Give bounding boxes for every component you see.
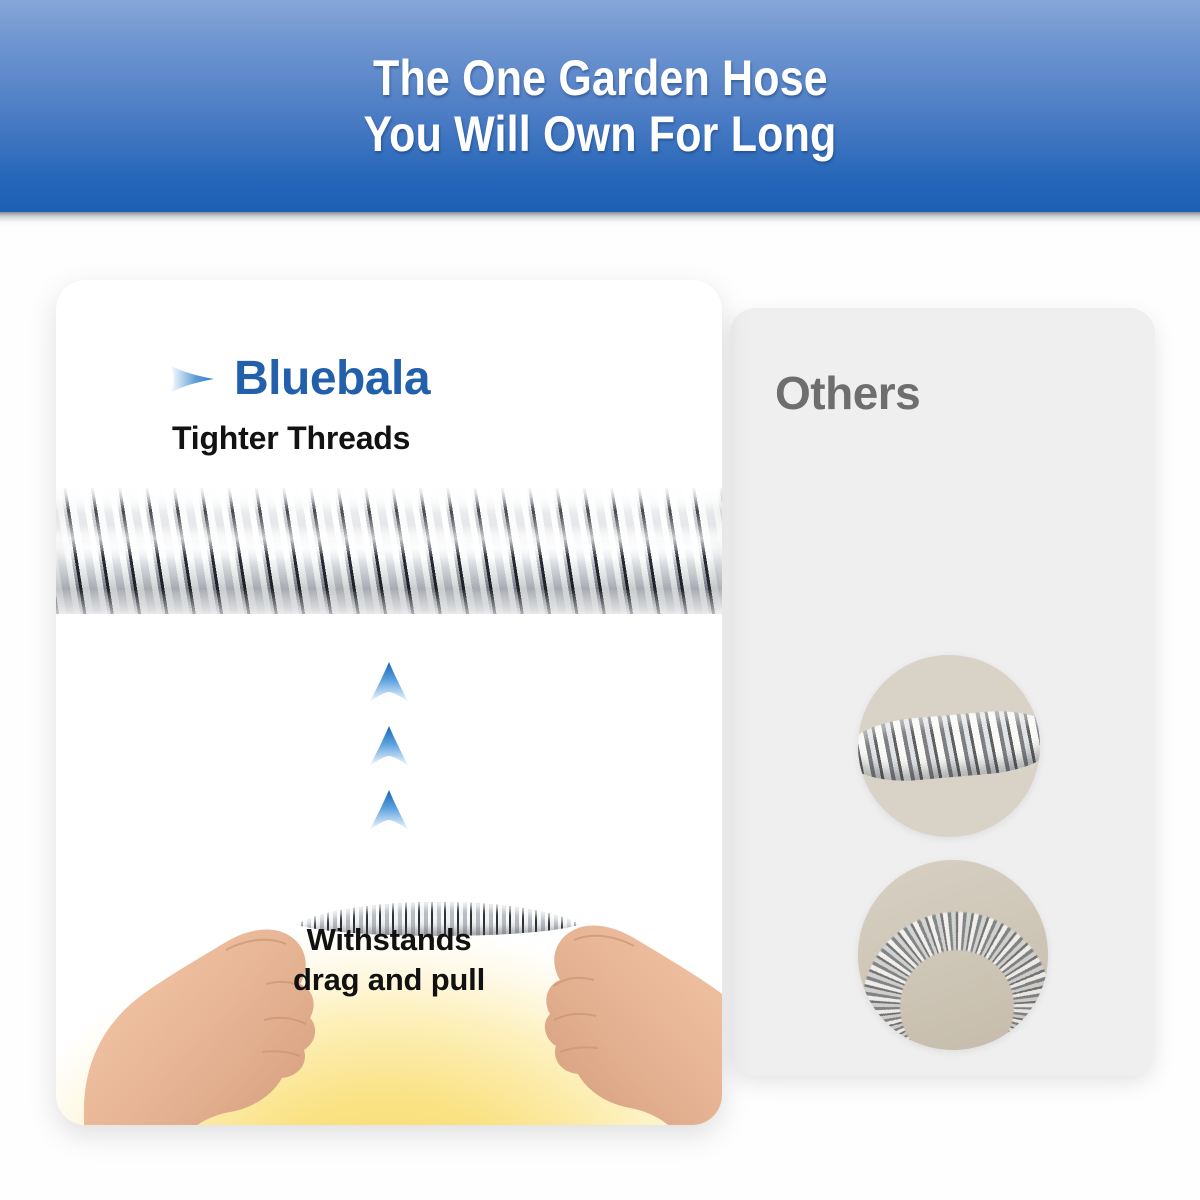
- header-title-line-1: The One Garden Hose: [373, 50, 828, 106]
- play-triangle-icon: [168, 359, 216, 399]
- competitor-hose-image: [725, 463, 1165, 663]
- header-drop-shadow: [0, 212, 1200, 228]
- others-comparison-panel: Others: [730, 308, 1155, 1076]
- competitor-hose-sheen: [725, 471, 1165, 663]
- brand-row: Bluebala: [168, 355, 430, 403]
- bluebala-hose-image: [56, 488, 722, 614]
- competitor-inset-photo-2: [858, 860, 1048, 1050]
- competitor-inset-photo-1: [858, 655, 1040, 837]
- left-hand-image: [76, 880, 326, 1125]
- header-title-line-2: You Will Own For Long: [364, 106, 837, 162]
- caption-block: Withstands drag and pull: [56, 920, 722, 1000]
- chevron-up-icon: [368, 660, 410, 706]
- caption-line-1: Withstands: [56, 920, 722, 960]
- right-hand-image: [534, 876, 722, 1125]
- header-banner: The One Garden Hose You Will Own For Lon…: [0, 0, 1200, 212]
- caption-line-2: drag and pull: [56, 960, 722, 1000]
- brand-name: Bluebala: [234, 355, 430, 403]
- feature-label: Tighter Threads: [172, 420, 410, 457]
- others-title: Others: [775, 366, 920, 420]
- bluebala-product-card: Bluebala Tighter Threads: [56, 280, 722, 1125]
- chevron-up-icon: [368, 724, 410, 770]
- product-comparison-page: The One Garden Hose You Will Own For Lon…: [0, 0, 1200, 1200]
